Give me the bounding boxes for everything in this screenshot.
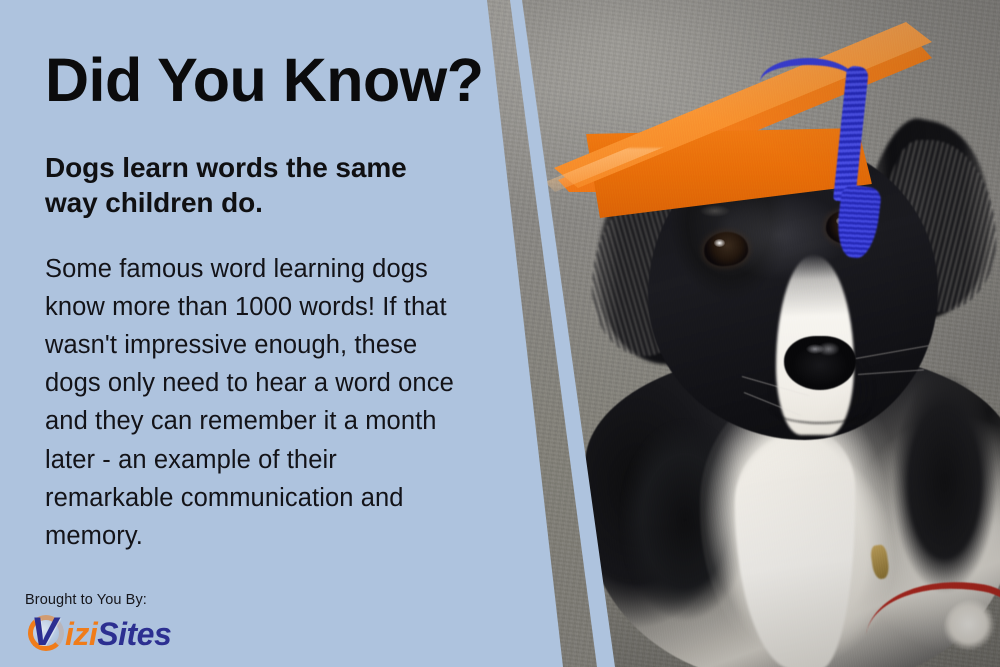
subheadline: Dogs learn words the same way children d… bbox=[45, 150, 425, 221]
dog-brow-left bbox=[700, 205, 730, 217]
logo-swoosh-icon: V bbox=[27, 613, 67, 655]
logo-letter-v: V bbox=[31, 612, 58, 652]
page-title: Did You Know? bbox=[45, 48, 484, 113]
body-text: Some famous word learning dogs know more… bbox=[45, 250, 470, 555]
vizisites-logo[interactable]: V izi Sites bbox=[27, 612, 171, 656]
dog-eye-glint-left bbox=[714, 239, 725, 247]
attribution-label: Brought to You By: bbox=[25, 592, 147, 608]
logo-text-izi: izi bbox=[65, 618, 97, 650]
dog-nose-highlight bbox=[806, 344, 824, 354]
dog-paw bbox=[944, 600, 1000, 658]
did-you-know-poster: Did You Know? Dogs learn words the same … bbox=[0, 0, 1000, 667]
logo-text-sites: Sites bbox=[97, 618, 171, 650]
